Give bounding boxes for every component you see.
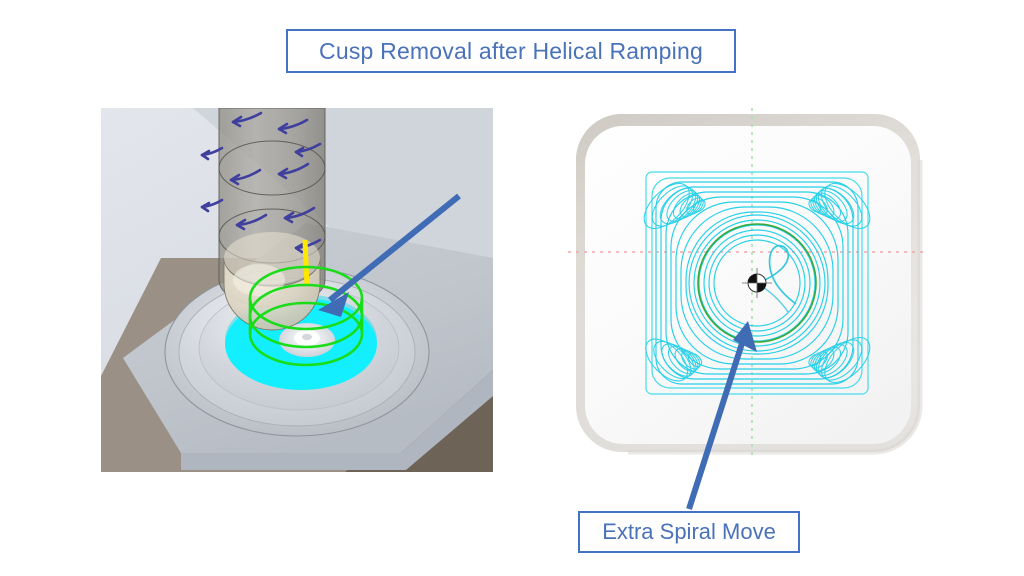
title-callout-box: Cusp Removal after Helical Ramping [286,29,736,73]
right-topview-toolpath-panel [568,108,928,460]
caption-callout-box: Extra Spiral Move [578,511,800,553]
left-3d-simulation-panel [101,108,493,472]
page-title: Cusp Removal after Helical Ramping [319,38,703,65]
lead-in-plunge-segment [305,240,307,286]
caption-label: Extra Spiral Move [602,519,776,545]
